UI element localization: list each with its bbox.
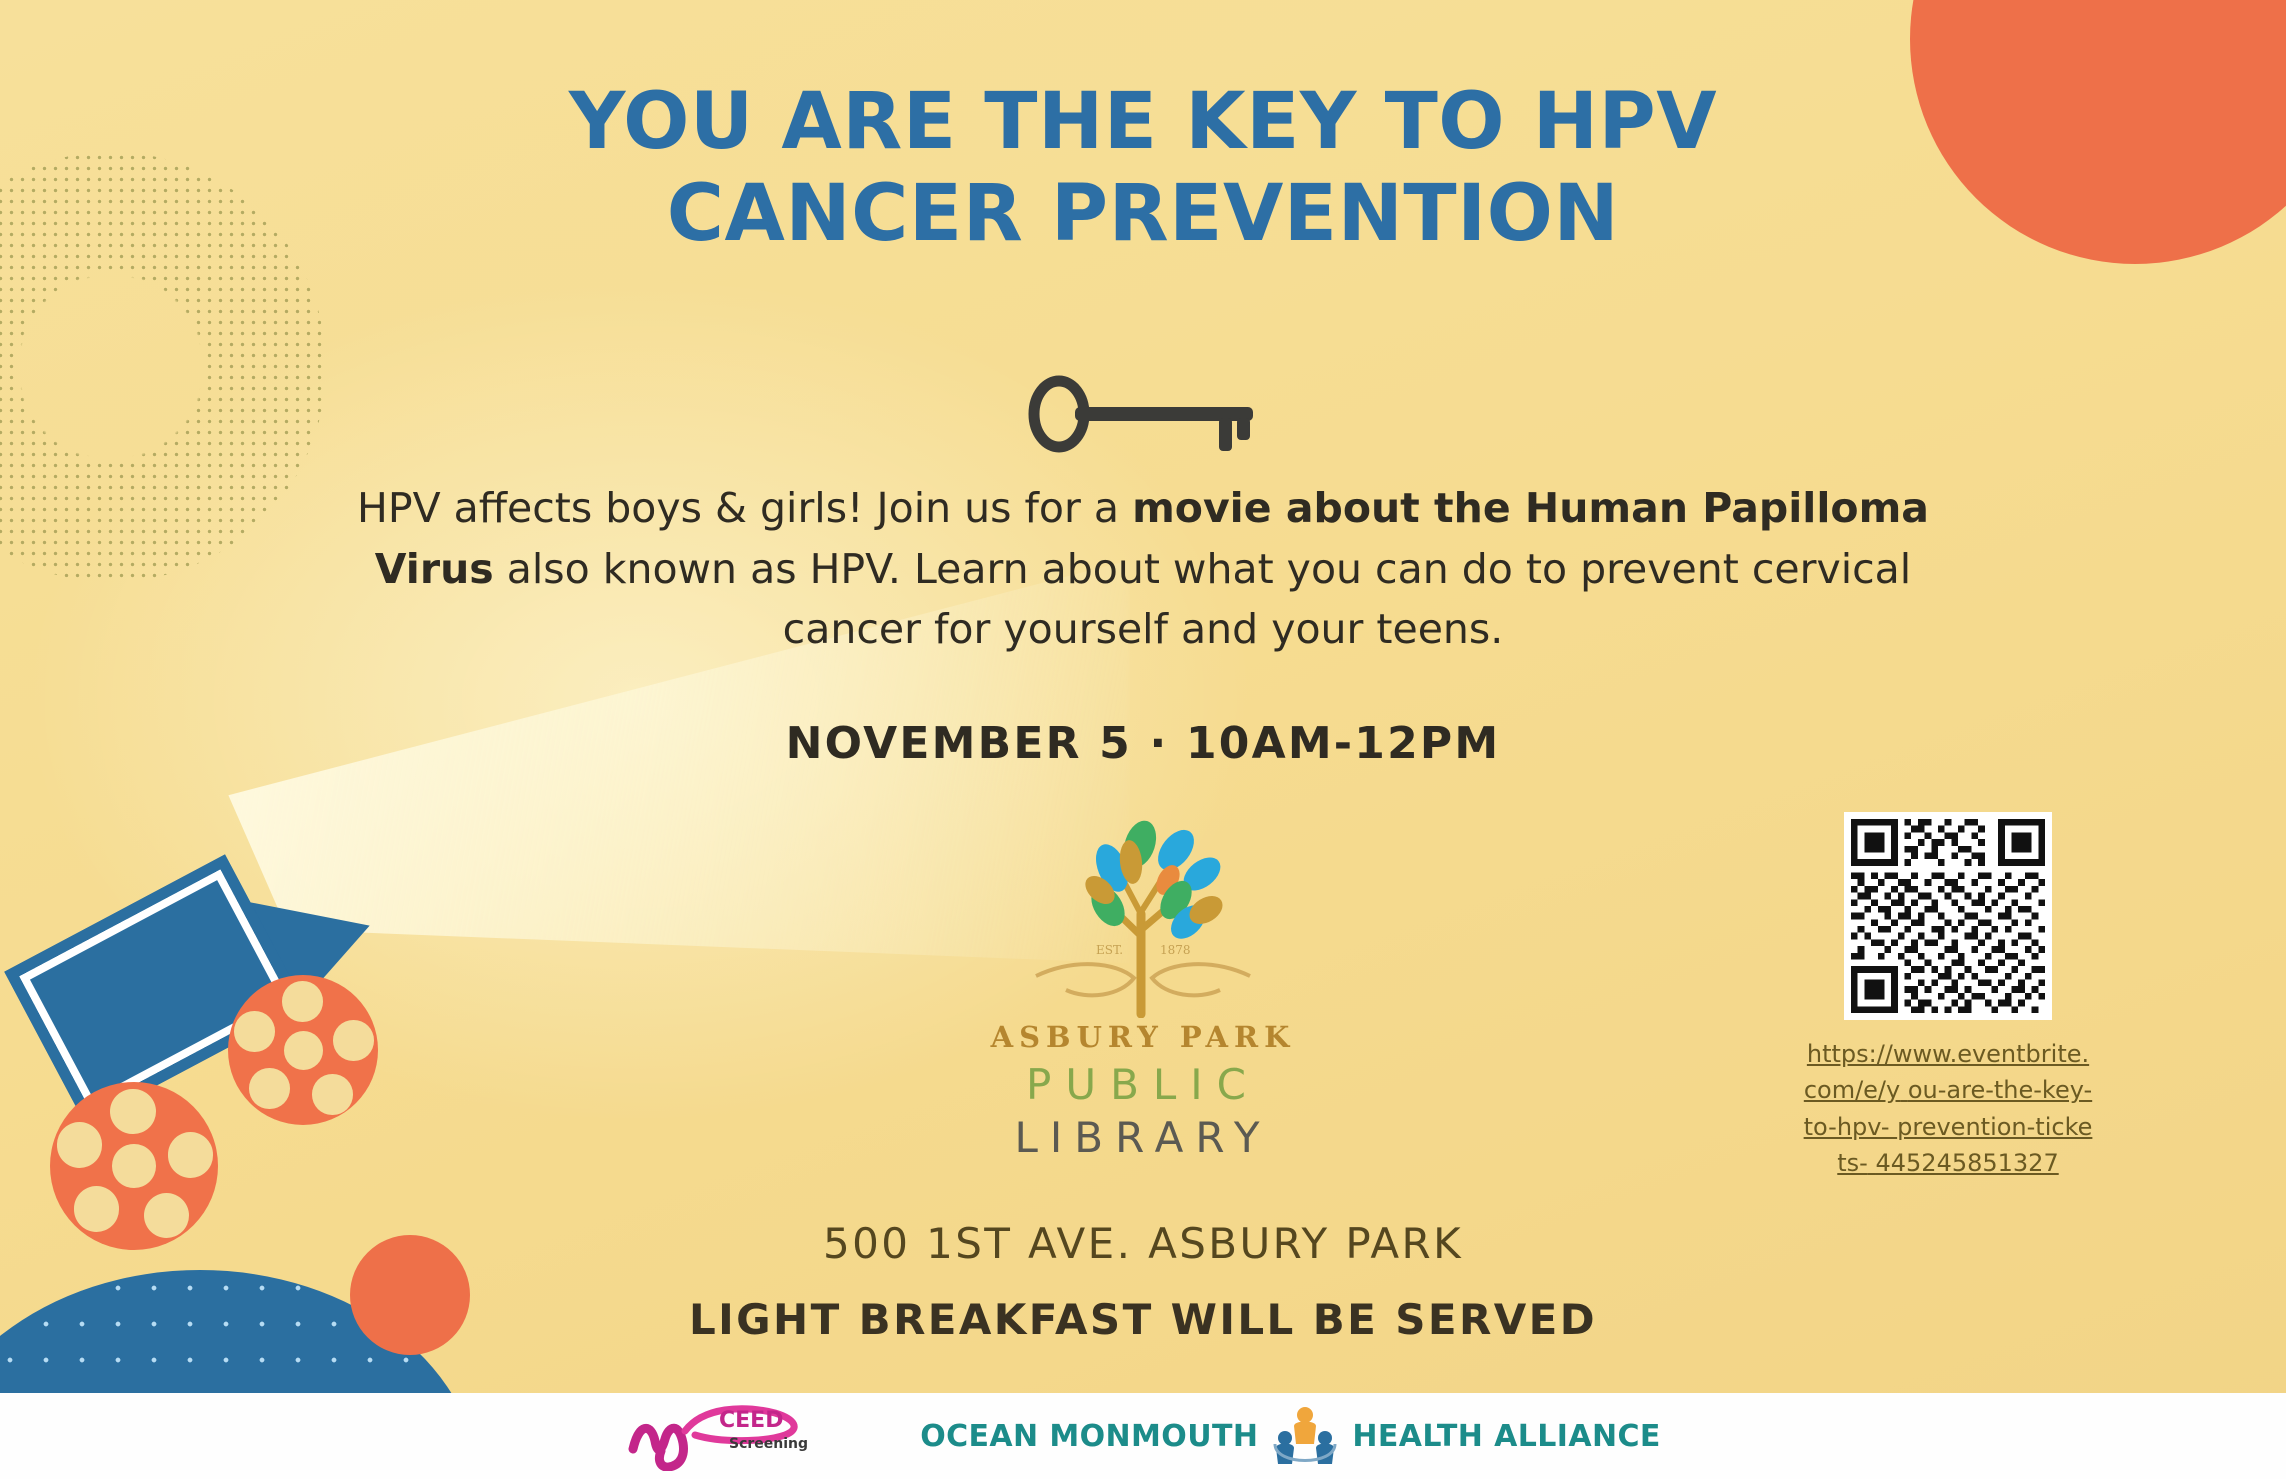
nj-ceed-logo-mark: CEED Screening [625, 1401, 850, 1471]
headline-line-2: CANCER PREVENTION [0, 168, 2286, 260]
qr-code[interactable] [1844, 812, 2052, 1020]
library-logo-block: EST. 1878 ASBURY PARK PUBLIC LIBRARY [933, 818, 1353, 1162]
hpv-prevention-flyer: YOU ARE THE KEY TO HPV CANCER PREVENTION… [0, 0, 2286, 1479]
svg-text:CEED: CEED [719, 1408, 783, 1433]
svg-text:1878: 1878 [1160, 943, 1191, 957]
registration-url[interactable]: https://www.eventbrite.com/e/y ou-are-th… [1803, 1036, 2093, 1182]
event-address: 500 1ST AVE. ASBURY PARK [0, 1219, 2286, 1268]
body-paragraph: HPV affects boys & girls! Join us for a … [313, 478, 1973, 660]
event-date-time: NOVEMBER 5 · 10AM-12PM [0, 718, 2286, 769]
svg-text:Screening: Screening [729, 1436, 808, 1452]
body-part-2: also known as HPV. Learn about what you … [494, 545, 1912, 654]
sponsor-footer: CEED Screening OCEAN MONMOUTH HEALTH ALL… [0, 1393, 2286, 1479]
library-name-line-2: PUBLIC [933, 1060, 1353, 1109]
library-name-line-1: ASBURY PARK [933, 1020, 1353, 1054]
people-circle-icon [1272, 1404, 1338, 1468]
key-icon [1023, 374, 1263, 454]
page-title: YOU ARE THE KEY TO HPV CANCER PREVENTION [0, 76, 2286, 260]
url-line-4: 445245851327 [1875, 1149, 2058, 1177]
svg-text:EST.: EST. [1096, 943, 1123, 957]
film-reel-icon [228, 975, 378, 1125]
omha-text-right: HEALTH ALLIANCE [1352, 1419, 1660, 1454]
tree-logo-icon: EST. 1878 [1028, 818, 1258, 1018]
omha-text-left: OCEAN MONMOUTH [920, 1419, 1258, 1454]
ocean-monmouth-health-alliance-logo: OCEAN MONMOUTH HEALTH ALLIANCE [920, 1404, 1661, 1468]
breakfast-note: LIGHT BREAKFAST WILL BE SERVED [0, 1295, 2286, 1344]
nj-ceed-logo: CEED Screening [625, 1401, 850, 1471]
key-icon-wrapper [0, 374, 2286, 454]
headline-line-1: YOU ARE THE KEY TO HPV [0, 76, 2286, 168]
body-part-1: HPV affects boys & girls! Join us for a [357, 484, 1132, 532]
registration-block: https://www.eventbrite.com/e/y ou-are-th… [1803, 812, 2093, 1182]
library-name-line-3: LIBRARY [933, 1113, 1353, 1162]
